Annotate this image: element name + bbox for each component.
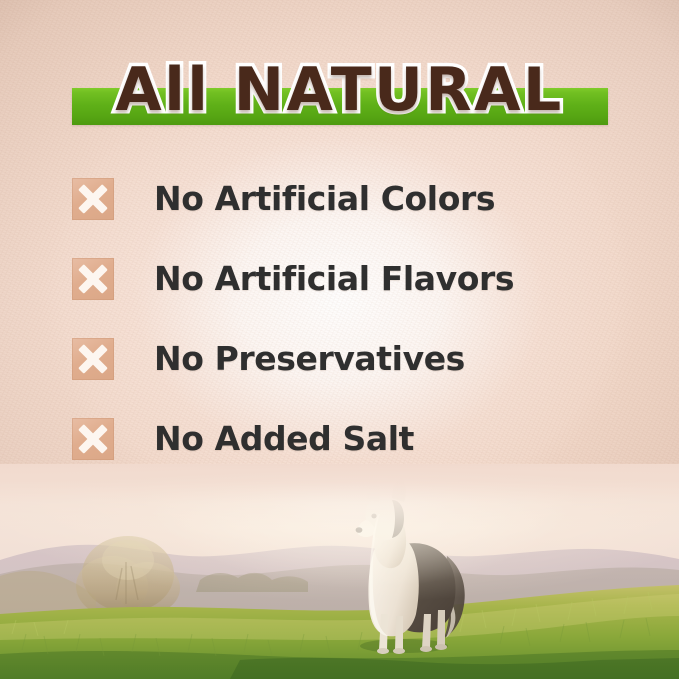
feature-list: No Artificial Colors No Artificial Flavo… xyxy=(72,176,632,496)
feature-row: No Added Salt xyxy=(72,416,632,462)
feature-row: No Preservatives xyxy=(72,336,632,382)
banner-title: All NATURAL xyxy=(0,52,679,128)
sun-haze-overlay xyxy=(0,464,679,679)
all-natural-infographic: All NATURAL No Artificial Colors No Arti… xyxy=(0,0,679,679)
feature-label: No Added Salt xyxy=(154,418,414,460)
feature-label: No Preservatives xyxy=(154,338,465,380)
x-mark-icon xyxy=(72,178,114,220)
feature-label: No Artificial Flavors xyxy=(154,258,514,300)
feature-label: No Artificial Colors xyxy=(154,178,495,220)
dog-in-field-photo xyxy=(0,464,679,679)
x-mark-icon xyxy=(72,338,114,380)
x-mark-icon xyxy=(72,258,114,300)
feature-row: No Artificial Flavors xyxy=(72,256,632,302)
x-mark-icon xyxy=(72,418,114,460)
photo-illustration xyxy=(0,464,679,679)
header-banner: All NATURAL xyxy=(0,52,679,138)
feature-row: No Artificial Colors xyxy=(72,176,632,222)
